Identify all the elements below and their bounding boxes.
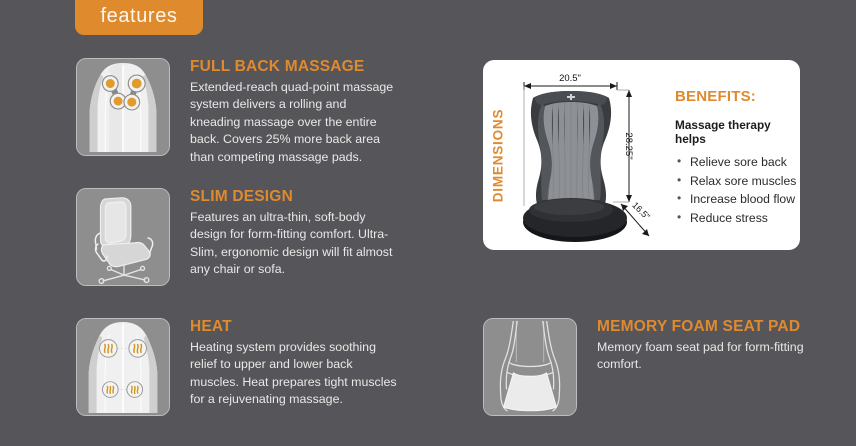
feature-slim-design: SLIM DESIGN Features an ultra-thin, soft… xyxy=(76,188,400,286)
massage-cushion-illustration: 20.5" 28.25" 16.5" xyxy=(509,64,669,246)
benefits-section: BENEFITS: Massage therapy helps Relieve … xyxy=(675,88,800,227)
feature-text: HEAT Heating system provides soothing re… xyxy=(190,318,400,416)
feature-title: FULL BACK MASSAGE xyxy=(190,58,400,76)
svg-text:20.5": 20.5" xyxy=(559,73,581,84)
benefit-item: Reduce stress xyxy=(675,209,800,228)
feature-body: Memory foam seat pad for form-fitting co… xyxy=(597,339,847,374)
seat-pad-icon xyxy=(483,318,577,416)
product-diagram: 20.5" 28.25" 16.5" xyxy=(509,64,669,246)
feature-title: HEAT xyxy=(190,318,400,336)
office-chair-icon xyxy=(76,188,170,286)
benefit-item: Relieve sore back xyxy=(675,153,800,172)
benefits-list: Relieve sore back Relax sore muscles Inc… xyxy=(675,153,800,227)
benefit-item: Increase blood flow xyxy=(675,190,800,209)
dimensions-benefits-panel: DIMENSIONS 20.5" 28.25" xyxy=(483,60,800,250)
feature-body: Features an ultra-thin, soft-body design… xyxy=(190,209,400,279)
feature-body: Extended-reach quad-point massage system… xyxy=(190,79,400,166)
feature-title: MEMORY FOAM SEAT PAD xyxy=(597,318,847,336)
back-massage-nodes-icon xyxy=(76,58,170,156)
dimensions-label: DIMENSIONS xyxy=(485,60,511,250)
svg-text:28.25": 28.25" xyxy=(623,132,634,159)
back-heat-zones-icon xyxy=(76,318,170,416)
feature-heat: HEAT Heating system provides soothing re… xyxy=(76,318,400,416)
benefits-subheading: Massage therapy helps xyxy=(675,118,800,146)
features-tab[interactable]: features xyxy=(75,0,203,35)
dimensions-label-text: DIMENSIONS xyxy=(491,108,506,202)
benefit-item: Relax sore muscles xyxy=(675,172,800,191)
feature-title: SLIM DESIGN xyxy=(190,188,400,206)
feature-text: MEMORY FOAM SEAT PAD Memory foam seat pa… xyxy=(597,318,847,416)
feature-body: Heating system provides soothing relief … xyxy=(190,339,400,409)
feature-memory-foam-seat-pad: MEMORY FOAM SEAT PAD Memory foam seat pa… xyxy=(483,318,847,416)
benefits-heading: BENEFITS: xyxy=(675,88,800,105)
features-tab-label: features xyxy=(100,5,177,28)
feature-text: SLIM DESIGN Features an ultra-thin, soft… xyxy=(190,188,400,286)
feature-full-back-massage: FULL BACK MASSAGE Extended-reach quad-po… xyxy=(76,58,400,166)
feature-text: FULL BACK MASSAGE Extended-reach quad-po… xyxy=(190,58,400,166)
features-page: features xyxy=(0,0,856,446)
